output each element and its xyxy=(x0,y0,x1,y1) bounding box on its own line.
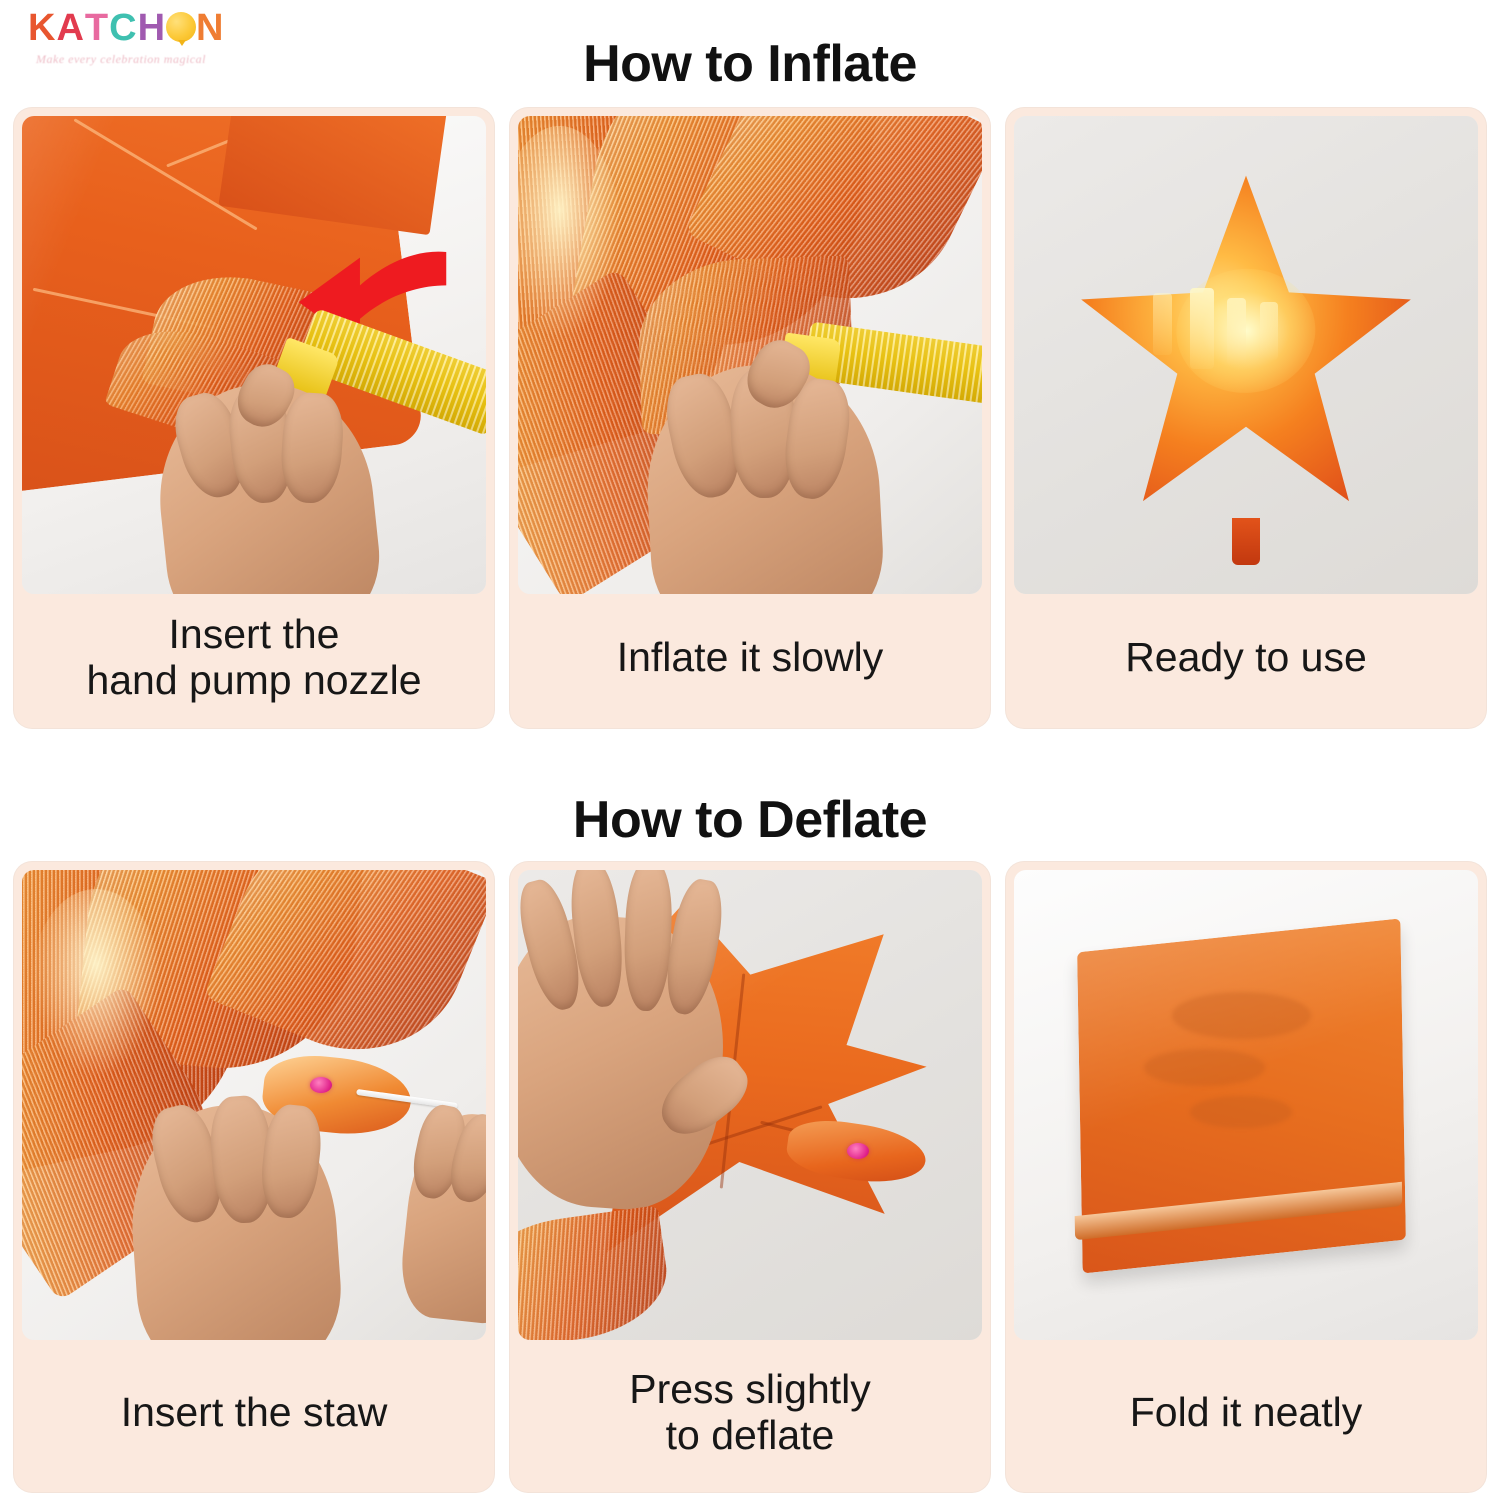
valve-dot-icon xyxy=(847,1143,869,1159)
step-caption: Press slightly to deflate xyxy=(510,1340,990,1492)
step-caption: Inflate it slowly xyxy=(510,594,990,728)
photo-insert-nozzle xyxy=(22,116,486,594)
valve-dot-icon xyxy=(310,1077,332,1093)
inflate-steps-grid: Insert the hand pump nozzle xyxy=(14,108,1486,728)
photo-inflate-slowly xyxy=(518,116,982,594)
step-caption: Ready to use xyxy=(1006,594,1486,728)
step-caption: Insert the hand pump nozzle xyxy=(14,594,494,728)
step-caption: Fold it neatly xyxy=(1006,1340,1486,1492)
photo-fold-neatly xyxy=(1014,870,1478,1340)
section-title-inflate: How to Inflate xyxy=(0,34,1500,94)
step-card-inflate-slowly: Inflate it slowly xyxy=(510,108,990,728)
photo-insert-straw xyxy=(22,870,486,1340)
photo-press-deflate xyxy=(518,870,982,1340)
photo-ready-to-use xyxy=(1014,116,1478,594)
deflate-steps-grid: Insert the staw Pr xyxy=(14,862,1486,1492)
section-title-deflate: How to Deflate xyxy=(0,790,1500,850)
step-card-press-deflate: Press slightly to deflate xyxy=(510,862,990,1492)
step-card-insert-nozzle: Insert the hand pump nozzle xyxy=(14,108,494,728)
step-card-fold-neatly: Fold it neatly xyxy=(1006,862,1486,1492)
step-card-insert-straw: Insert the staw xyxy=(14,862,494,1492)
step-card-ready-to-use: Ready to use xyxy=(1006,108,1486,728)
step-caption: Insert the staw xyxy=(14,1340,494,1492)
